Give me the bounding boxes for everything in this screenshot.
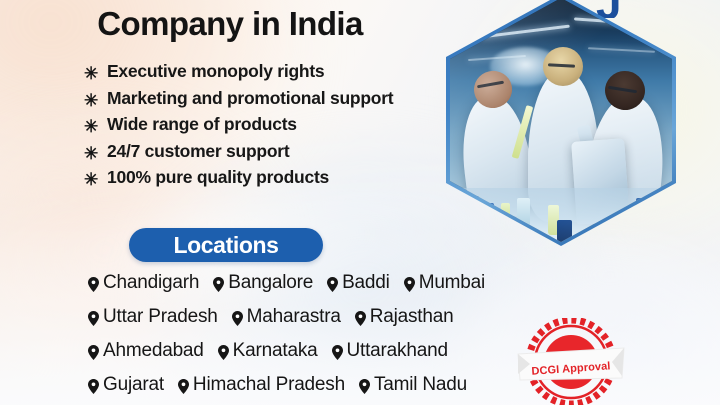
location-label: Chandigarh xyxy=(103,272,199,294)
map-pin-icon xyxy=(327,277,338,292)
list-item-label: 100% pure quality products xyxy=(107,164,329,191)
location-label: Uttar Pradesh xyxy=(103,306,218,328)
map-pin-icon xyxy=(359,379,370,394)
laboratory-photo xyxy=(450,0,672,242)
map-pin-icon xyxy=(355,311,366,326)
location-label: Mumbai xyxy=(419,272,485,294)
asterisk-bullet-icon: ✳ xyxy=(84,171,98,188)
list-item: ✳ 24/7 customer support xyxy=(84,138,484,165)
lab-shelf xyxy=(588,47,655,52)
list-item: Maharastra xyxy=(232,306,341,328)
approval-seal-icon xyxy=(512,318,630,405)
lab-photo-hexagon xyxy=(446,0,676,246)
locations-row: Uttar Pradesh Maharastra Rajasthan xyxy=(88,300,558,334)
list-item: ✳ Wide range of products xyxy=(84,111,484,138)
list-item: Uttar Pradesh xyxy=(88,306,218,328)
asterisk-bullet-icon: ✳ xyxy=(84,145,98,162)
list-item-label: Wide range of products xyxy=(107,111,297,138)
page-title: Company in India xyxy=(0,6,460,42)
list-item: Bangalore xyxy=(213,272,313,294)
map-pin-icon xyxy=(88,311,99,326)
map-pin-icon xyxy=(178,379,189,394)
promo-poster: J Company in India ✳ Executive monopoly … xyxy=(0,0,720,405)
locations-heading-label: Locations xyxy=(173,234,278,257)
list-item: Tamil Nadu xyxy=(359,374,467,396)
list-item-label: Marketing and promotional support xyxy=(107,85,393,112)
list-item: Rajasthan xyxy=(355,306,454,328)
list-item-label: 24/7 customer support xyxy=(107,138,289,165)
list-item: Uttarakhand xyxy=(332,340,448,362)
locations-heading-pill: Locations xyxy=(129,228,323,262)
location-label: Himachal Pradesh xyxy=(193,374,345,396)
location-label: Rajasthan xyxy=(370,306,454,328)
list-item: Mumbai xyxy=(404,272,485,294)
list-item: Gujarat xyxy=(88,374,164,396)
list-item: Ahmedabad xyxy=(88,340,204,362)
asterisk-bullet-icon: ✳ xyxy=(84,65,98,82)
list-item: Himachal Pradesh xyxy=(178,374,345,396)
locations-row: Gujarat Himachal Pradesh Tamil Nadu xyxy=(88,368,558,402)
list-item: Chandigarh xyxy=(88,272,199,294)
locations-row: Ahmedabad Karnataka Uttarakhand xyxy=(88,334,558,368)
map-pin-icon xyxy=(213,277,224,292)
map-pin-icon xyxy=(88,345,99,360)
status-badge: DCGI Approval xyxy=(512,318,630,405)
map-pin-icon xyxy=(232,311,243,326)
location-label: Ahmedabad xyxy=(103,340,204,362)
location-label: Uttarakhand xyxy=(347,340,448,362)
list-item-label: Executive monopoly rights xyxy=(107,58,324,85)
sample-vial xyxy=(468,196,479,228)
map-pin-icon xyxy=(404,277,415,292)
feature-list: ✳ Executive monopoly rights ✳ Marketing … xyxy=(84,58,484,191)
map-pin-icon xyxy=(88,379,99,394)
asterisk-bullet-icon: ✳ xyxy=(84,118,98,135)
asterisk-bullet-icon: ✳ xyxy=(84,92,98,109)
map-pin-icon xyxy=(332,345,343,360)
locations-list: Chandigarh Bangalore Baddi Mumbai Uttar … xyxy=(88,266,558,402)
location-label: Bangalore xyxy=(228,272,313,294)
list-item: Baddi xyxy=(327,272,390,294)
location-label: Tamil Nadu xyxy=(374,374,467,396)
locations-row: Chandigarh Bangalore Baddi Mumbai xyxy=(88,266,558,300)
location-label: Baddi xyxy=(342,272,390,294)
list-item: Karnataka xyxy=(218,340,318,362)
list-item: ✳ Executive monopoly rights xyxy=(84,58,484,85)
location-label: Gujarat xyxy=(103,374,164,396)
list-item: ✳ Marketing and promotional support xyxy=(84,85,484,112)
hexagon-photo-clip xyxy=(450,0,672,242)
list-item: ✳ 100% pure quality products xyxy=(84,164,484,191)
location-label: Maharastra xyxy=(247,306,341,328)
map-pin-icon xyxy=(88,277,99,292)
map-pin-icon xyxy=(218,345,229,360)
location-label: Karnataka xyxy=(233,340,318,362)
